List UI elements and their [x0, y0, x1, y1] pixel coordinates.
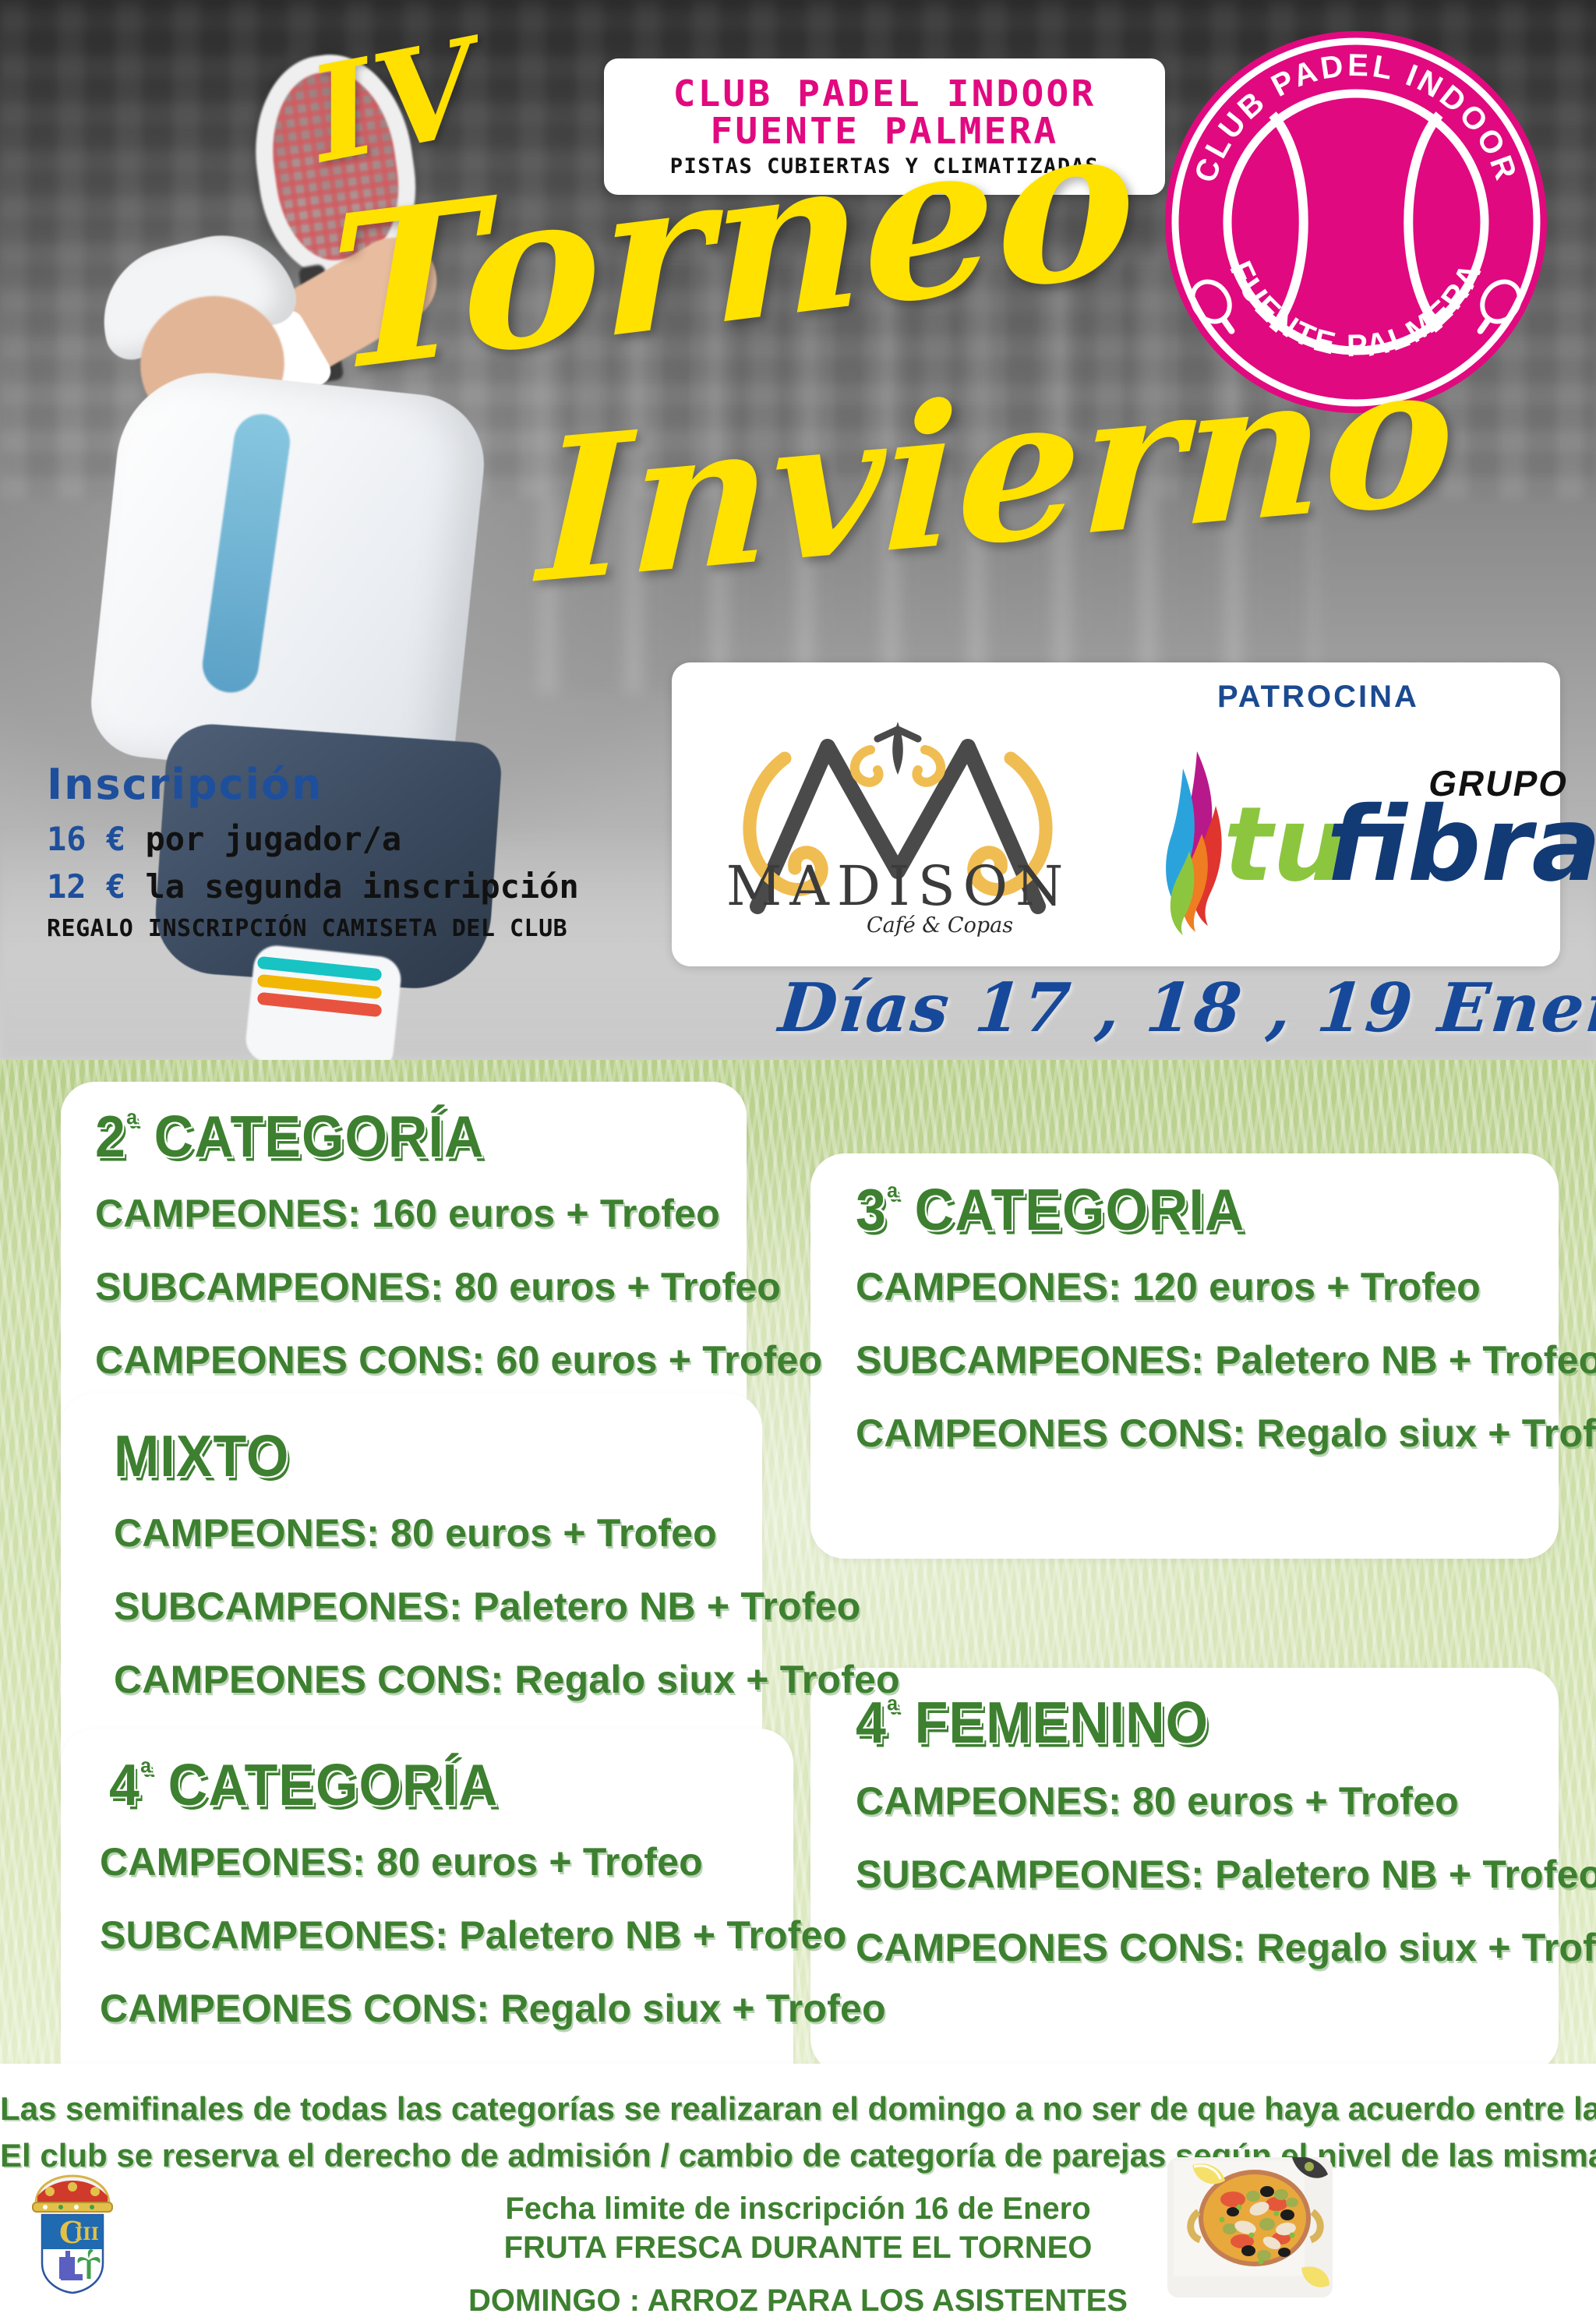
footer-sunday-rice: DOMINGO : ARROZ PARA LOS ASISTENTES	[0, 2283, 1596, 2317]
category-name-cat3: CATEGORIA	[915, 1177, 1245, 1242]
category-mixto-line-2: SUBCAMPEONES: Paletero NB + Trofeo	[114, 1584, 860, 1629]
category-cat4-line-2: SUBCAMPEONES: Paletero NB + Trofeo	[100, 1913, 846, 1958]
category-fem4-line-3: CAMPEONES CONS: Regalo siux + Trofeo	[856, 1925, 1596, 1970]
shield-icon: C III	[42, 2215, 103, 2293]
category-cat3-line-1: CAMPEONES: 120 euros + Trofeo	[856, 1264, 1481, 1309]
category-title-fem4: 4ª FEMENINO	[856, 1689, 1209, 1756]
footer-note-admission: El club se reserva el derecho de admisió…	[0, 2137, 1596, 2174]
category-name-cat4: CATEGORÍA	[168, 1752, 499, 1817]
registration-block: Inscripción 16 € por jugador/a 12 € la s…	[47, 760, 577, 942]
category-ordinal-cat2: ª	[126, 1107, 138, 1143]
category-ordinal-fem4: ª	[887, 1694, 899, 1729]
registration-price-1-label: por jugador/a	[145, 820, 401, 858]
category-name-cat2: CATEGORÍA	[154, 1104, 485, 1169]
category-title-cat2: 2ª CATEGORÍA	[95, 1103, 484, 1170]
paella-photo	[1167, 2157, 1333, 2298]
registration-price-1-amount: 16 €	[47, 820, 125, 858]
footer-fruit: FRUTA FRESCA DURANTE EL TORNEO	[0, 2230, 1596, 2266]
category-number-fem4: 4	[856, 1690, 887, 1755]
category-mixto-line-1: CAMPEONES: 80 euros + Trofeo	[114, 1510, 717, 1556]
category-name-fem4: FEMENINO	[915, 1690, 1209, 1755]
category-cat3-line-3: CAMPEONES CONS: Regalo siux + Trofeo	[856, 1411, 1596, 1456]
madison-tagline: Café & Copas	[867, 913, 1013, 938]
category-ordinal-cat4: ª	[140, 1756, 152, 1792]
category-title-cat3: 3ª CATEGORIA	[856, 1176, 1245, 1243]
registration-price-2: 12 € la segunda inscripción	[47, 867, 577, 906]
registration-title: Inscripción	[47, 760, 577, 809]
category-number-cat4: 4	[109, 1752, 140, 1817]
category-cat4-line-1: CAMPEONES: 80 euros + Trofeo	[100, 1839, 703, 1884]
registration-price-2-label: la segunda inscripción	[145, 867, 578, 906]
madison-wordmark: MADISON	[708, 854, 1089, 918]
category-fem4-line-2: SUBCAMPEONES: Paletero NB + Trofeo	[856, 1852, 1596, 1897]
municipal-coat-of-arms: C III	[14, 2173, 131, 2305]
category-cat4-line-3: CAMPEONES CONS: Regalo siux + Trofeo	[100, 1986, 886, 2031]
category-cat3-line-2: SUBCAMPEONES: Paletero NB + Trofeo	[856, 1337, 1596, 1383]
category-cat2-line-2: SUBCAMPEONES: 80 euros + Trofeo	[95, 1264, 781, 1309]
category-cat2-line-1: CAMPEONES: 160 euros + Trofeo	[95, 1191, 720, 1236]
tufibra-logo: GRUPO tu fibra	[1139, 748, 1545, 943]
tournament-poster: CLUB PADEL INDOOR FUENTE PALMERA PISTAS …	[0, 0, 1596, 2317]
registration-price-2-amount: 12 €	[47, 867, 125, 906]
category-ordinal-cat3: ª	[887, 1181, 899, 1217]
category-cat2-line-3: CAMPEONES CONS: 60 euros + Trofeo	[95, 1337, 822, 1383]
sponsor-card: PATROCINA MADISON Café & Copas GR	[672, 662, 1560, 966]
crown-icon	[33, 2176, 112, 2212]
category-mixto-line-3: CAMPEONES CONS: Regalo siux + Trofeo	[114, 1657, 900, 1702]
footer-deadline: Fecha limite de inscripción 16 de Enero	[0, 2192, 1596, 2227]
tournament-dates: Días 17 , 18 , 19 Enero	[776, 969, 1596, 1047]
registration-price-1: 16 € por jugador/a	[47, 820, 577, 858]
registration-gift-note: REGALO INSCRIPCIÓN CAMISETA DEL CLUB	[47, 915, 577, 942]
category-name-mixto: MIXTO	[114, 1423, 289, 1489]
category-number-cat3: 3	[856, 1177, 887, 1242]
tufibra-fibra-text: fibra	[1326, 793, 1596, 896]
category-fem4-line-1: CAMPEONES: 80 euros + Trofeo	[856, 1778, 1459, 1824]
category-title-mixto: MIXTO	[114, 1422, 289, 1489]
player-shirt	[86, 364, 491, 789]
category-number-cat2: 2	[95, 1104, 126, 1169]
footer-note-semifinals: Las semifinales de todas las categorías …	[0, 2090, 1596, 2128]
category-title-cat4: 4ª CATEGORÍA	[109, 1751, 498, 1818]
sponsor-heading: PATROCINA	[1217, 680, 1419, 715]
svg-text:III: III	[75, 2224, 99, 2245]
